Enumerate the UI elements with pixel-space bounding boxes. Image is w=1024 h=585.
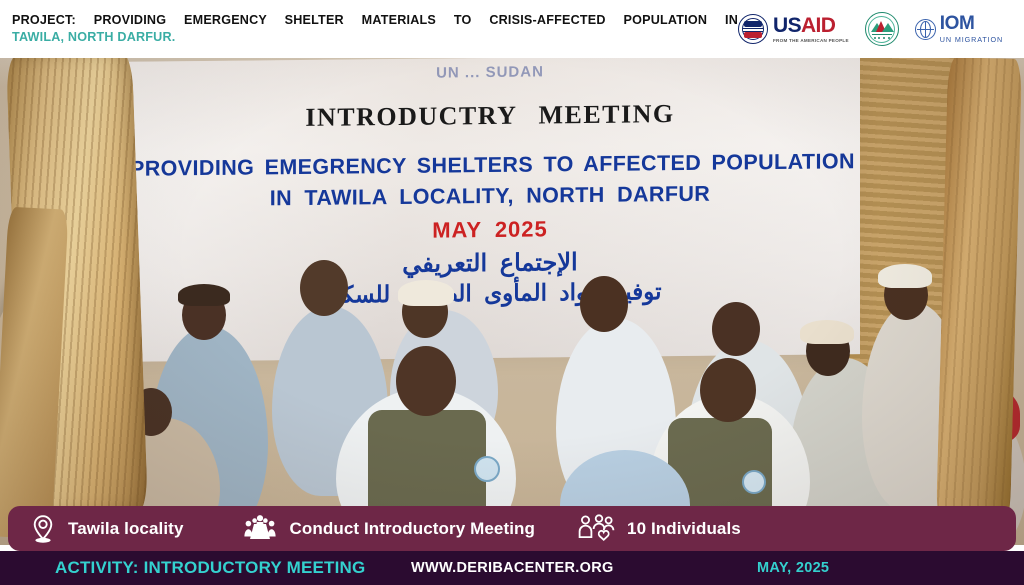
iom-word: IOM [940, 14, 1003, 33]
footer-activity-label: ACTIVITY: INTRODUCTORY MEETING [55, 558, 365, 578]
logo-group: USAID FROM THE AMERICAN PEOPLE [738, 12, 1011, 46]
globe-icon [915, 19, 936, 40]
header-bar: PROJECT: PROVIDING EMERGENCY SHELTER MAT… [0, 0, 1024, 58]
usaid-wordmark: USAID FROM THE AMERICAN PEOPLE [773, 15, 849, 43]
iom-logo: IOM UN MIGRATION [915, 14, 1003, 44]
usaid-word-us: US [773, 14, 801, 37]
footer-bar: ACTIVITY: INTRODUCTORY MEETING WWW.DERIB… [0, 551, 1024, 585]
usaid-logo: USAID FROM THE AMERICAN PEOPLE [738, 14, 849, 44]
footer-date-label: MAY, 2025 [757, 560, 829, 576]
page-title-line1: PROJECT: PROVIDING EMERGENCY SHELTER MAT… [12, 12, 738, 29]
people-heart-icon [577, 514, 615, 544]
deriba-center-logo [865, 12, 899, 46]
participants-crowd [0, 58, 1024, 545]
mountain-peaks-icon [871, 19, 893, 39]
poster-root: PROJECT: PROVIDING EMERGENCY SHELTER MAT… [0, 0, 1024, 585]
info-item-beneficiaries-label: 10 Individuals [627, 519, 741, 539]
info-item-activity: Conduct Introductory Meeting [242, 514, 536, 544]
page-title: PROJECT: PROVIDING EMERGENCY SHELTER MAT… [12, 12, 738, 45]
location-pin-icon [30, 514, 56, 544]
page-title-line2: TAWILA, NORTH DARFUR. [12, 29, 738, 46]
info-item-location: Tawila locality [30, 514, 184, 544]
info-bar: Tawila locality Conduct Introductory Mee… [8, 506, 1016, 551]
info-item-location-label: Tawila locality [68, 519, 184, 539]
iom-tagline: UN MIGRATION [940, 35, 1003, 44]
usaid-tagline: FROM THE AMERICAN PEOPLE [773, 38, 849, 43]
info-item-activity-label: Conduct Introductory Meeting [290, 519, 536, 539]
usaid-seal-icon [738, 14, 768, 44]
footer-website-link[interactable]: WWW.DERIBACENTER.ORG [411, 560, 614, 576]
meeting-table-icon [242, 514, 278, 544]
tree-trunk-right [936, 58, 1022, 529]
introductory-meeting-photo: UN ... SUDAN INTRODUCTRY MEETING PROVIDI… [0, 58, 1024, 545]
iom-wordmark: IOM UN MIGRATION [940, 14, 1003, 44]
info-item-beneficiaries: 10 Individuals [577, 514, 741, 544]
usaid-word-aid: AID [801, 14, 835, 37]
